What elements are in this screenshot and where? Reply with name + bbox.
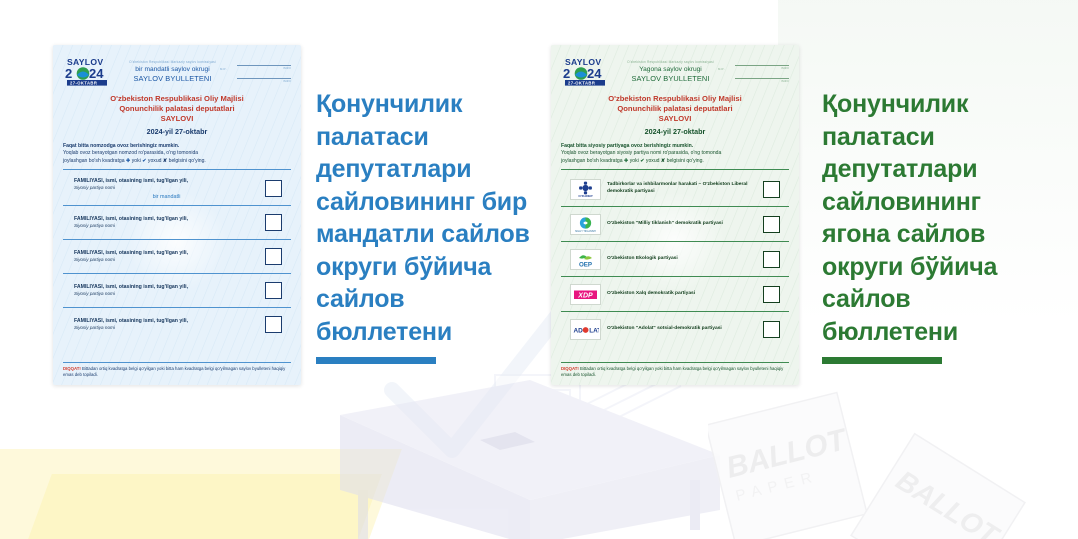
title-line-1: O'zbekiston Respublikasi Oliy Majlisi (63, 94, 291, 104)
signature-line-2: IMZO (229, 71, 291, 84)
warning-label: DIQQAT! (63, 366, 81, 371)
svg-text:2: 2 (563, 66, 570, 81)
candidate-name: FAMILIYASI, ismi, otasining ismi, tug'il… (74, 250, 259, 257)
ballot-single-mandate: SAYLOV 2 24 27-OKTABR O'zbekiston Respub… (53, 45, 301, 385)
instruction-rest-c: belgisini qo'ying. (169, 158, 206, 164)
caption-text: Қонунчилик палатаси депутатлари сайловин… (822, 88, 1037, 348)
signature-fields: IMZO IMZO M.O'. (727, 54, 789, 84)
okrug-block: O'zbekiston Respublikasi Markaziy saylov… (621, 54, 720, 83)
candidate-name: FAMILIYASI, ismi, otasining ismi, tug'il… (74, 178, 259, 185)
ballot-paper-watermark: BALLOT PAPER BALLOT (708, 389, 1038, 539)
instruction-or-2: yoxud (148, 158, 162, 164)
instruction-or-2: yoxud (646, 158, 660, 164)
candidate-party: Siyosiy partiya nomi (74, 325, 259, 331)
table-row[interactable]: AD LAT O'zbekiston "Adolat" sotsial-demo… (561, 312, 789, 346)
poster-canvas: BALLOT PAPER BALLOT (0, 0, 1078, 539)
svg-text:AD: AD (574, 327, 584, 334)
instruction-or-1: yoki (630, 158, 639, 164)
party-name: O'zbekiston "Milliy tiklanish" demokrati… (607, 221, 763, 228)
svg-text:27-OKTABR: 27-OKTABR (568, 80, 595, 85)
title-date: 2024-yil 27-oktabr (561, 127, 789, 136)
saylov-2024-logo: SAYLOV 2 24 27-OKTABR (561, 54, 614, 88)
ballot-header: SAYLOV 2 24 27-OKTABR O'zbekiston Respub… (63, 54, 291, 88)
xdp-logo-icon: XDP (570, 284, 601, 305)
title-line-2: Qonunchilik palatasi deputatlari (561, 104, 789, 114)
svg-text:MILLIY TIKLANISH: MILLIY TIKLANISH (575, 230, 596, 233)
plus-icon: ✚ (126, 158, 130, 164)
oep-logo-icon: OEP (570, 249, 601, 270)
party-name: O'zbekiston Ekologik partiyasi (607, 256, 763, 263)
instruction-bold: Faqat bitta siyosiy partiyaga ovoz beris… (561, 143, 789, 150)
party-list: O'ZLIDEP Tadbirkorlar va ishbilarmonlar … (561, 172, 789, 346)
milliy-tiklanish-logo-icon: MILLIY TIKLANISH (570, 214, 601, 235)
cross-icon: ✘ (661, 158, 665, 164)
svg-text:24: 24 (89, 66, 104, 81)
adolat-logo-icon: AD LAT (570, 319, 601, 340)
vote-checkbox[interactable] (265, 248, 282, 265)
warning-text: Bittadan ortiq kvadratga belgi qo'yilgan… (63, 366, 285, 377)
signature-fields: IMZO IMZO M.O'. (229, 54, 291, 84)
ballot-warning: DIQQAT! Bittadan ortiq kvadratga belgi q… (561, 362, 789, 378)
candidate-party: Siyosiy partiya nomi (74, 257, 259, 263)
table-row[interactable]: FAMILIYASI, ismi, otasining ismi, tug'il… (63, 172, 291, 206)
title-line-1: O'zbekiston Respublikasi Oliy Majlisi (561, 94, 789, 104)
candidate-extra-label: bir mandatli (74, 194, 259, 200)
ozlidep-logo-icon: O'ZLIDEP (570, 179, 601, 200)
signature-caption-1: IMZO (781, 66, 789, 70)
signature-caption-1: IMZO (283, 66, 291, 70)
table-row[interactable]: FAMILIYASI, ismi, otasining ismi, tug'il… (63, 274, 291, 308)
title-line-2: Qonunchilik palatasi deputatlari (63, 104, 291, 114)
warning-divider (63, 362, 291, 363)
vote-checkbox[interactable] (265, 214, 282, 231)
table-row[interactable]: FAMILIYASI, ismi, otasining ismi, tug'il… (63, 308, 291, 341)
instruction-bold: Faqat bitta nomzodga ovoz berishingiz mu… (63, 143, 291, 150)
instruction-rest-b: joylashgan bo'sh kvadratga (63, 158, 125, 164)
okrug-tiny-label: O'zbekiston Respublikasi Markaziy saylov… (621, 61, 720, 65)
caption-underline-bar (822, 357, 942, 364)
title-line-3: SAYLOVI (561, 114, 789, 124)
instruction-divider (63, 169, 291, 170)
signature-caption-2: IMZO (781, 79, 789, 83)
saylov-2024-logo: SAYLOV 2 24 27-OKTABR (63, 54, 116, 88)
caption-underline-bar (316, 357, 436, 364)
signature-caption-2: IMZO (283, 79, 291, 83)
table-row[interactable]: XDP O'zbekiston Xalq demokratik partiyas… (561, 277, 789, 312)
caption-single-mandate: Қонунчилик палатаси депутатлари сайловин… (316, 88, 531, 364)
signature-line-1: IMZO (229, 58, 291, 71)
svg-text:2: 2 (65, 66, 72, 81)
warning-divider (561, 362, 789, 363)
plus-icon: ✚ (624, 158, 628, 164)
instruction-rest-c: belgisini qo'ying. (667, 158, 704, 164)
check-icon: ✔ (640, 158, 644, 164)
table-row[interactable]: O'ZLIDEP Tadbirkorlar va ishbilarmonlar … (561, 172, 789, 207)
candidate-party: Siyosiy partiya nomi (74, 291, 259, 297)
svg-text:27-OKTABR: 27-OKTABR (70, 80, 97, 85)
ballot-box-icon (330, 370, 730, 539)
vote-checkbox[interactable] (763, 286, 780, 303)
svg-text:LAT: LAT (589, 327, 599, 334)
candidate-party: Siyosiy partiya nomi (74, 223, 259, 229)
cross-icon: ✘ (163, 158, 167, 164)
okrug-tiny-label: O'zbekiston Respublikasi Markaziy saylov… (123, 61, 222, 65)
svg-text:24: 24 (587, 66, 602, 81)
instruction-rest-a: Yoqlab ovoz berayotgan siyosiy partiya n… (561, 150, 721, 156)
caption-text: Қонунчилик палатаси депутатлари сайловин… (316, 88, 531, 348)
ballot-instructions: Faqat bitta siyosiy partiyaga ovoz beris… (561, 143, 789, 165)
vote-checkbox[interactable] (265, 316, 282, 333)
okrug-line2: SAYLOV BYULLETENI (621, 74, 720, 83)
signature-left-label: M.O'. (718, 67, 725, 71)
vote-checkbox[interactable] (763, 216, 780, 233)
table-row[interactable]: OEP O'zbekiston Ekologik partiyasi (561, 242, 789, 277)
vote-checkbox[interactable] (265, 282, 282, 299)
party-name: O'zbekiston Xalq demokratik partiyasi (607, 291, 763, 298)
okrug-line1: bir mandatli saylov okrugi (123, 66, 222, 74)
candidate-list: FAMILIYASI, ismi, otasining ismi, tug'il… (63, 172, 291, 341)
signature-line-1: IMZO (727, 58, 789, 71)
ballot-title: O'zbekiston Respublikasi Oliy Majlisi Qo… (561, 94, 789, 136)
svg-text:OEP: OEP (579, 261, 592, 268)
ballot-instructions: Faqat bitta nomzodga ovoz berishingiz mu… (63, 143, 291, 165)
instruction-divider (561, 169, 789, 170)
ballot-single-constituency: SAYLOV 2 24 27-OKTABR O'zbekiston Respub… (551, 45, 799, 385)
warning-text: Bittadan ortiq kvadratga belgi qo'yilgan… (561, 366, 783, 377)
svg-text:XDP: XDP (577, 292, 593, 299)
party-name: Tadbirkorlar va ishbilarmonlar harakati … (607, 182, 763, 196)
check-icon: ✔ (142, 158, 146, 164)
signature-line-2: IMZO (727, 71, 789, 84)
ballot-warning: DIQQAT! Bittadan ortiq kvadratga belgi q… (63, 362, 291, 378)
title-date: 2024-yil 27-oktabr (63, 127, 291, 136)
svg-text:O'ZLIDEP: O'ZLIDEP (578, 194, 592, 198)
background-yellow-band-2 (8, 474, 382, 539)
party-name: O'zbekiston "Adolat" sotsial-demokratik … (607, 326, 763, 333)
table-row[interactable]: FAMILIYASI, ismi, otasining ismi, tug'il… (63, 240, 291, 274)
vote-checkbox[interactable] (265, 180, 282, 197)
candidate-party: Siyosiy partiya nomi (74, 185, 259, 191)
okrug-line2: SAYLOV BYULLETENI (123, 74, 222, 83)
signature-left-label: M.O'. (220, 67, 227, 71)
candidate-name: FAMILIYASI, ismi, otasining ismi, tug'il… (74, 216, 259, 223)
instruction-rest-b: joylashgan bo'sh kvadratga (561, 158, 623, 164)
warning-label: DIQQAT! (561, 366, 579, 371)
ballot-header: SAYLOV 2 24 27-OKTABR O'zbekiston Respub… (561, 54, 789, 88)
instruction-or-1: yoki (132, 158, 141, 164)
vote-checkbox[interactable] (763, 251, 780, 268)
caption-single-constituency: Қонунчилик палатаси депутатлари сайловин… (822, 88, 1037, 364)
instruction-rest-a: Yoqlab ovoz berayotgan nomzod ro'parasid… (63, 150, 198, 156)
candidate-name: FAMILIYASI, ismi, otasining ismi, tug'il… (74, 284, 259, 291)
okrug-block: O'zbekiston Respublikasi Markaziy saylov… (123, 54, 222, 83)
vote-checkbox[interactable] (763, 181, 780, 198)
vote-checkbox[interactable] (763, 321, 780, 338)
title-line-3: SAYLOVI (63, 114, 291, 124)
candidate-name: FAMILIYASI, ismi, otasining ismi, tug'il… (74, 318, 259, 325)
ballot-title: O'zbekiston Respublikasi Oliy Majlisi Qo… (63, 94, 291, 136)
okrug-line1: Yagona saylov okrugi (621, 66, 720, 74)
table-row[interactable]: FAMILIYASI, ismi, otasining ismi, tug'il… (63, 206, 291, 240)
table-row[interactable]: MILLIY TIKLANISH O'zbekiston "Milliy tik… (561, 207, 789, 242)
